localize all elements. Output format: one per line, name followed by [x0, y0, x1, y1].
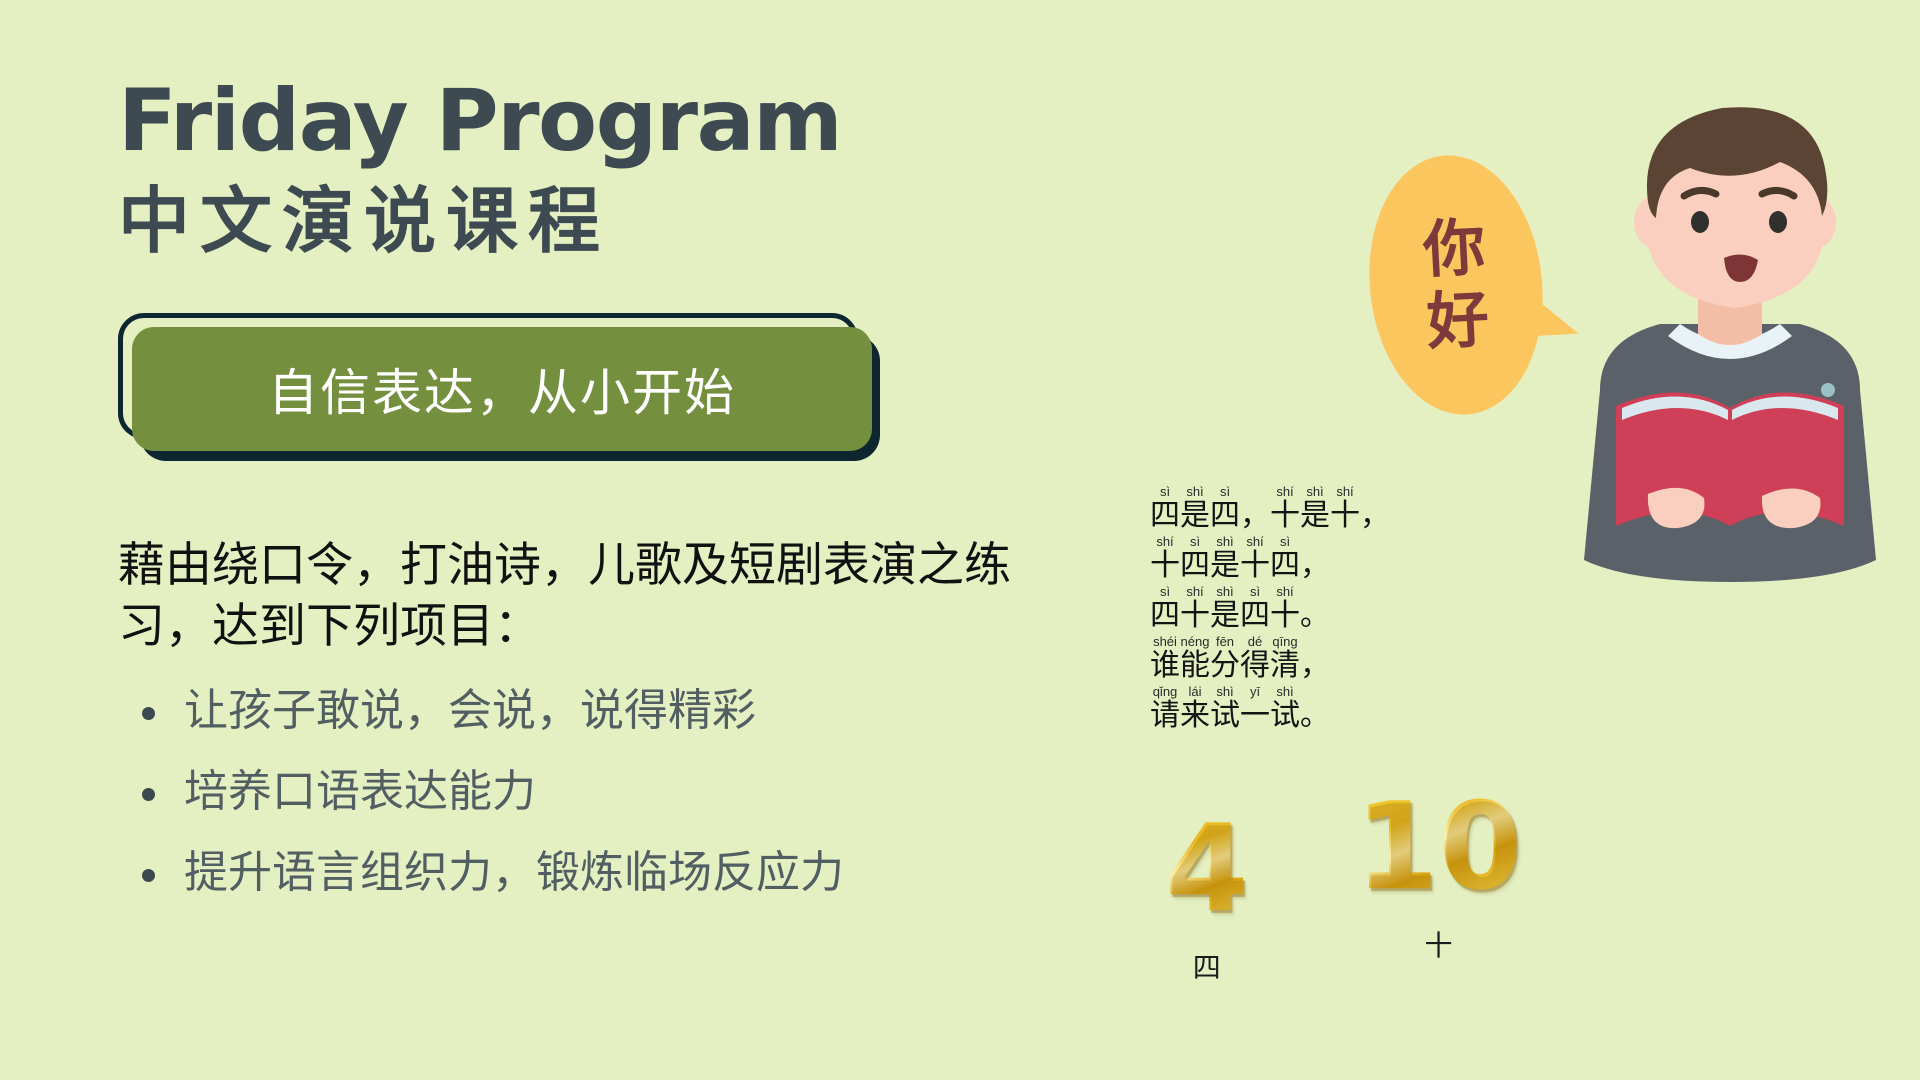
poem-hanzi: 十: [1330, 499, 1360, 533]
list-item: 提升语言组织力，锻炼临场反应力: [118, 845, 1118, 900]
list-item: 培养口语表达能力: [118, 764, 1118, 819]
number-illustrations: 4 四 10 十: [1110, 810, 1630, 1010]
poem-character: fēn分: [1210, 635, 1240, 683]
bullet-dot-icon: [142, 788, 155, 801]
poem-hanzi: 十: [1180, 599, 1210, 633]
poem-pinyin: sì: [1210, 485, 1240, 499]
page-title-chinese: 中文演说课程: [118, 180, 1118, 263]
poem-character: qǐng请: [1150, 685, 1180, 733]
poem-punctuation: ，: [1240, 499, 1270, 533]
poem-pinyin: shì: [1300, 485, 1330, 499]
poem-character: qīng清: [1270, 635, 1300, 683]
page-title-english: Friday Program: [118, 76, 1118, 166]
speech-bubble: 你 好: [1357, 147, 1555, 424]
benefit-text: 提升语言组织力，锻炼临场反应力: [184, 847, 844, 898]
tongue-twister-poem: sì四shì是sì四，shí十shì是shí十，shí十sì四shì是shí十s…: [1150, 485, 1540, 735]
poem-hanzi: 是: [1210, 599, 1240, 633]
poem-character: shì是: [1180, 485, 1210, 533]
poem-character: shì是: [1210, 585, 1240, 633]
poem-punctuation: ，: [1300, 649, 1330, 683]
gold-number-hanzi: 四: [1165, 946, 1249, 986]
poem-line: sì四shì是sì四，shí十shì是shí十，: [1150, 485, 1540, 533]
number-block-4: 4 四: [1165, 810, 1249, 986]
poem-pinyin: shì: [1210, 685, 1240, 699]
poem-character: shí十: [1270, 485, 1300, 533]
poem-pinyin: néng: [1180, 635, 1210, 649]
poem-character: shí十: [1180, 585, 1210, 633]
list-item: 让孩子敢说，会说，说得精彩: [118, 683, 1118, 738]
number-block-10: 10 十: [1355, 788, 1522, 964]
poem-character: sì四: [1210, 485, 1240, 533]
poem-hanzi: 清: [1270, 649, 1300, 683]
poem-pinyin: shì: [1180, 485, 1210, 499]
speech-bubble-text: 你 好: [1363, 151, 1548, 420]
poem-punctuation: ，: [1300, 549, 1330, 583]
poem-pinyin: shí: [1240, 535, 1270, 549]
poem-pinyin: shí: [1270, 485, 1300, 499]
poem-hanzi: 十: [1270, 499, 1300, 533]
poem-hanzi: 能: [1180, 649, 1210, 683]
poem-character: sì四: [1270, 535, 1300, 583]
poem-character: shì是: [1300, 485, 1330, 533]
poem-pinyin: shí: [1150, 535, 1180, 549]
poem-pinyin: sì: [1240, 585, 1270, 599]
left-content-column: Friday Program 中文演说课程 自信表达，从小开始 藉由绕口令，打油…: [118, 76, 1118, 1006]
poem-character: shí十: [1330, 485, 1360, 533]
poem-hanzi: 是: [1210, 549, 1240, 583]
poem-punctuation: 。: [1300, 699, 1330, 733]
poem-character: sì四: [1150, 585, 1180, 633]
poem-pinyin: sì: [1270, 535, 1300, 549]
poem-character: sì四: [1180, 535, 1210, 583]
poem-pinyin: qǐng: [1150, 685, 1180, 699]
poem-hanzi: 是: [1300, 499, 1330, 533]
tagline-label: 自信表达，从小开始: [132, 327, 872, 451]
course-description: 藉由绕口令，打油诗，儿歌及短剧表演之练习，达到下列项目：: [118, 535, 1048, 657]
poem-character: dé得: [1240, 635, 1270, 683]
poem-punctuation: 。: [1300, 599, 1330, 633]
poem-hanzi: 一: [1240, 699, 1270, 733]
speech-bubble-line-2: 好: [1425, 288, 1490, 353]
poem-hanzi: 来: [1180, 699, 1210, 733]
poem-pinyin: shí: [1270, 585, 1300, 599]
poem-pinyin: shéi: [1150, 635, 1180, 649]
poem-line: sì四shí十shì是sì四shí十。: [1150, 585, 1540, 633]
benefit-text: 培养口语表达能力: [184, 766, 536, 817]
poem-character: sì四: [1150, 485, 1180, 533]
poem-character: néng能: [1180, 635, 1210, 683]
poem-line: shí十sì四shì是shí十sì四，: [1150, 535, 1540, 583]
poem-pinyin: sì: [1150, 585, 1180, 599]
poem-character: shì试: [1270, 685, 1300, 733]
poem-hanzi: 十: [1240, 549, 1270, 583]
poem-hanzi: 谁: [1150, 649, 1180, 683]
poem-pinyin: sì: [1150, 485, 1180, 499]
poem-pinyin: yī: [1240, 685, 1270, 699]
poem-hanzi: 试: [1210, 699, 1240, 733]
poem-character: shí十: [1150, 535, 1180, 583]
gold-number-hanzi: 十: [1355, 924, 1522, 964]
poem-hanzi: 分: [1210, 649, 1240, 683]
poem-hanzi: 四: [1150, 599, 1180, 633]
poem-character: shí十: [1270, 585, 1300, 633]
poem-hanzi: 是: [1180, 499, 1210, 533]
poem-hanzi: 试: [1270, 699, 1300, 733]
poem-punctuation: ，: [1360, 499, 1390, 533]
poem-line: qǐng请lái来shì试yī一shì试。: [1150, 685, 1540, 733]
poem-pinyin: sì: [1180, 535, 1210, 549]
poem-pinyin: lái: [1180, 685, 1210, 699]
poem-pinyin: qīng: [1270, 635, 1300, 649]
poem-pinyin: fēn: [1210, 635, 1240, 649]
poem-character: shéi谁: [1150, 635, 1180, 683]
poem-character: lái来: [1180, 685, 1210, 733]
poem-pinyin: shì: [1210, 535, 1240, 549]
speech-bubble-line-1: 你: [1422, 216, 1487, 281]
right-illustration-column: 你 好: [1090, 0, 1920, 1080]
poem-character: shì是: [1210, 535, 1240, 583]
boy-reading-illustration: [1530, 90, 1920, 630]
poem-character: shì试: [1210, 685, 1240, 733]
poem-hanzi: 得: [1240, 649, 1270, 683]
poem-pinyin: shì: [1270, 685, 1300, 699]
benefit-list: 让孩子敢说，会说，说得精彩 培养口语表达能力 提升语言组织力，锻炼临场反应力: [118, 683, 1118, 900]
gold-number-digit: 4: [1165, 810, 1249, 930]
poem-character: shí十: [1240, 535, 1270, 583]
poem-hanzi: 四: [1180, 549, 1210, 583]
bullet-dot-icon: [142, 869, 155, 882]
gold-number-digit: 10: [1355, 788, 1522, 908]
bullet-dot-icon: [142, 707, 155, 720]
poem-hanzi: 四: [1210, 499, 1240, 533]
poem-pinyin: shí: [1330, 485, 1360, 499]
poem-pinyin: shí: [1180, 585, 1210, 599]
poem-pinyin: dé: [1240, 635, 1270, 649]
poem-pinyin: shì: [1210, 585, 1240, 599]
poem-hanzi: 十: [1150, 549, 1180, 583]
poem-character: sì四: [1240, 585, 1270, 633]
poem-hanzi: 请: [1150, 699, 1180, 733]
poem-hanzi: 十: [1270, 599, 1300, 633]
poem-hanzi: 四: [1150, 499, 1180, 533]
tagline-badge[interactable]: 自信表达，从小开始: [118, 313, 888, 461]
poem-character: yī一: [1240, 685, 1270, 733]
poem-hanzi: 四: [1270, 549, 1300, 583]
benefit-text: 让孩子敢说，会说，说得精彩: [184, 685, 756, 736]
poem-hanzi: 四: [1240, 599, 1270, 633]
poem-line: shéi谁néng能fēn分dé得qīng清，: [1150, 635, 1540, 683]
